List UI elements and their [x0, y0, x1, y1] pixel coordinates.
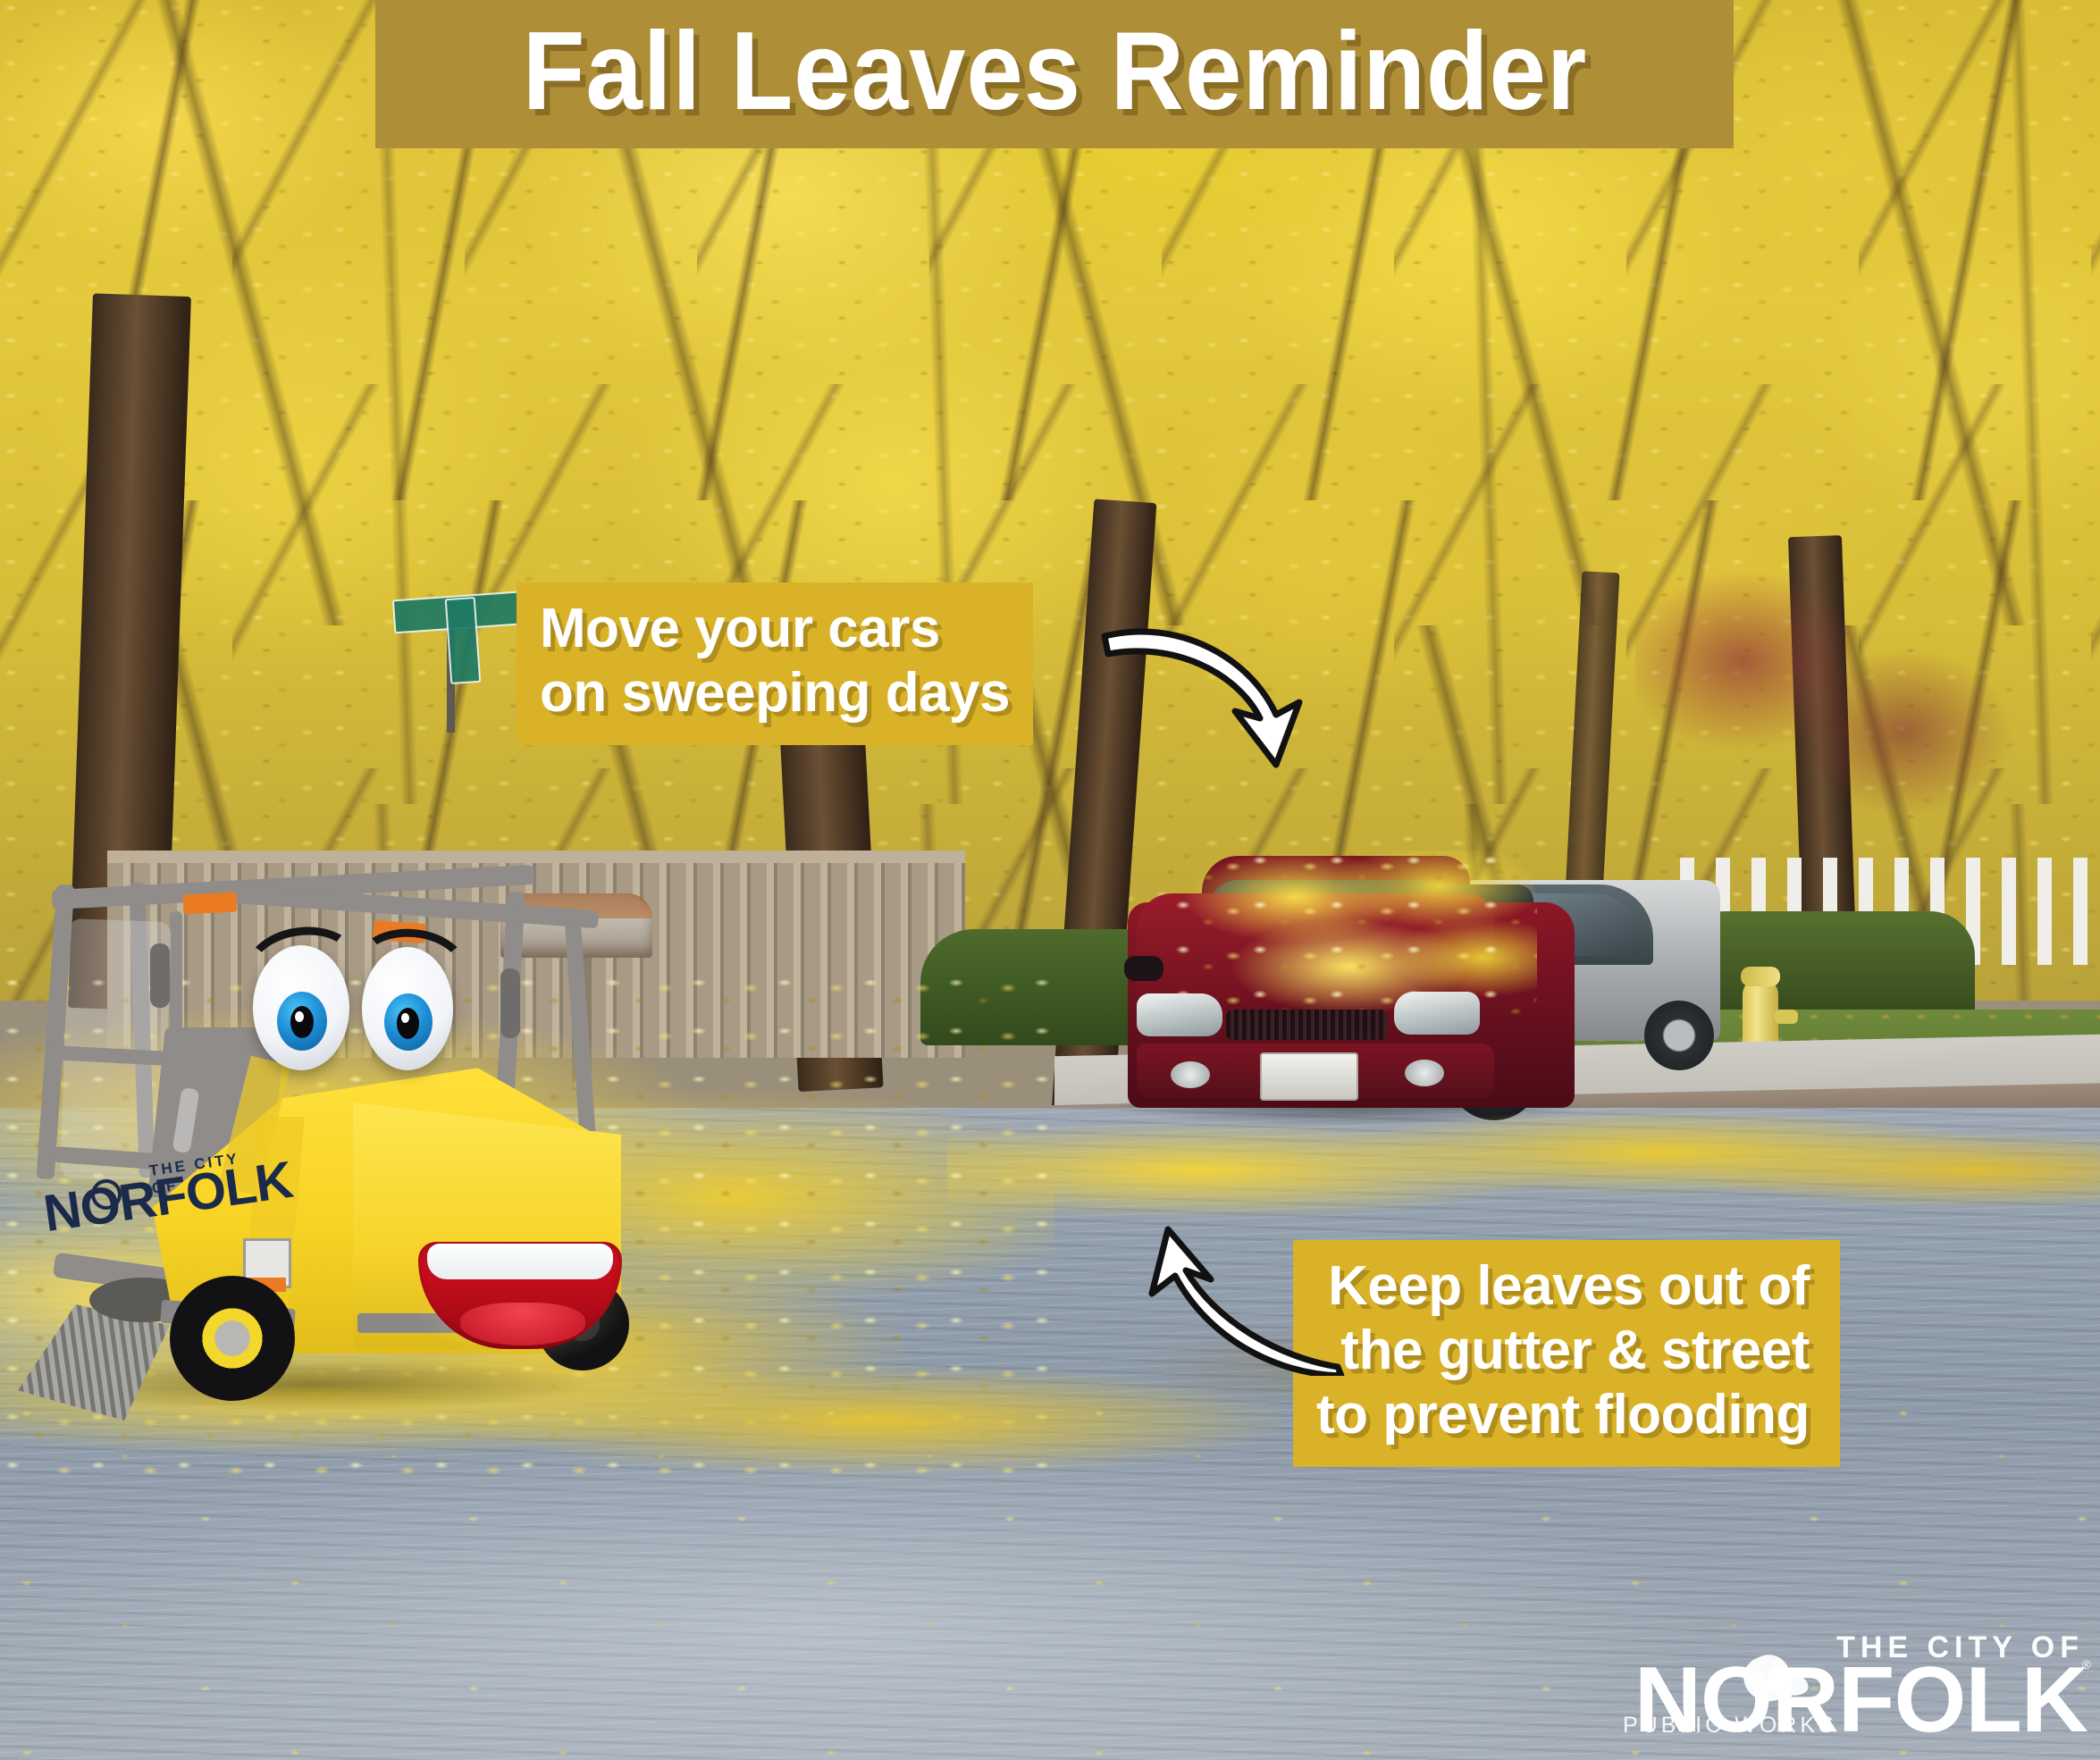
red-sedan-fog-light — [1405, 1060, 1444, 1086]
fire-hydrant-cap — [1741, 967, 1780, 986]
page-title: Fall Leaves Reminder — [522, 16, 1586, 127]
silver-sedan-wheel — [1644, 1001, 1714, 1070]
leaves-on-red-sedan-texture — [1171, 851, 1537, 1020]
callout-line: Move your cars — [540, 597, 1010, 661]
callout-line: on sweeping days — [540, 661, 1010, 725]
callout-move-cars: Move your cars on sweeping days — [517, 582, 1033, 745]
callout-line: to prevent flooding — [1316, 1383, 1810, 1447]
title-banner: Fall Leaves Reminder — [375, 0, 1734, 148]
street-sign-cross — [445, 597, 482, 684]
norfolk-public-works-logo: THE CITY OF NORFOLK ® PUBLIC WORKS — [1609, 1630, 2091, 1756]
street-sweeper-mascot — [0, 858, 652, 1412]
cab-frame-pad — [500, 968, 520, 1038]
mascot-eye-glint — [295, 1011, 304, 1022]
curved-arrow-down-right-icon — [1101, 625, 1306, 786]
red-sedan-grille — [1226, 1010, 1387, 1040]
warning-light — [182, 892, 237, 914]
red-sedan-license-plate — [1260, 1052, 1358, 1101]
red-sedan-headlight-left — [1137, 993, 1222, 1036]
mascot-teeth — [427, 1244, 613, 1279]
logo-department: PUBLIC WORKS — [1623, 1713, 1837, 1739]
callout-line: the gutter & street — [1316, 1319, 1810, 1383]
callout-keep-leaves-out: Keep leaves out of the gutter & street t… — [1293, 1240, 1840, 1467]
fire-hydrant-nozzle — [1775, 1010, 1798, 1024]
cab-frame-pad — [150, 943, 170, 1008]
cab-frame-bar — [564, 909, 596, 1143]
red-foliage-tree — [1635, 554, 2011, 876]
mascot-pupil-left — [290, 1006, 314, 1038]
red-sedan-fog-light — [1171, 1061, 1210, 1088]
curved-arrow-up-left-icon — [1148, 1224, 1345, 1376]
hedge — [1680, 911, 1975, 1018]
red-sedan-headlight-right — [1394, 992, 1480, 1035]
mascot-tongue — [460, 1303, 585, 1345]
mascot-eye-glint — [401, 1013, 409, 1023]
sweeper-front-wheel — [170, 1276, 295, 1401]
leaf-pile-gutter — [947, 1099, 2100, 1260]
mascot-pupil-right — [397, 1008, 419, 1039]
callout-line: Keep leaves out of — [1316, 1254, 1810, 1319]
poster-canvas: NORFOLK THE CITY OF Fall Leaves Reminder… — [0, 0, 2100, 1760]
red-sedan-mirror — [1124, 956, 1163, 981]
registered-mark: ® — [2082, 1657, 2091, 1672]
sweeper-norfolk-decal: NORFOLK THE CITY OF — [43, 1152, 266, 1224]
